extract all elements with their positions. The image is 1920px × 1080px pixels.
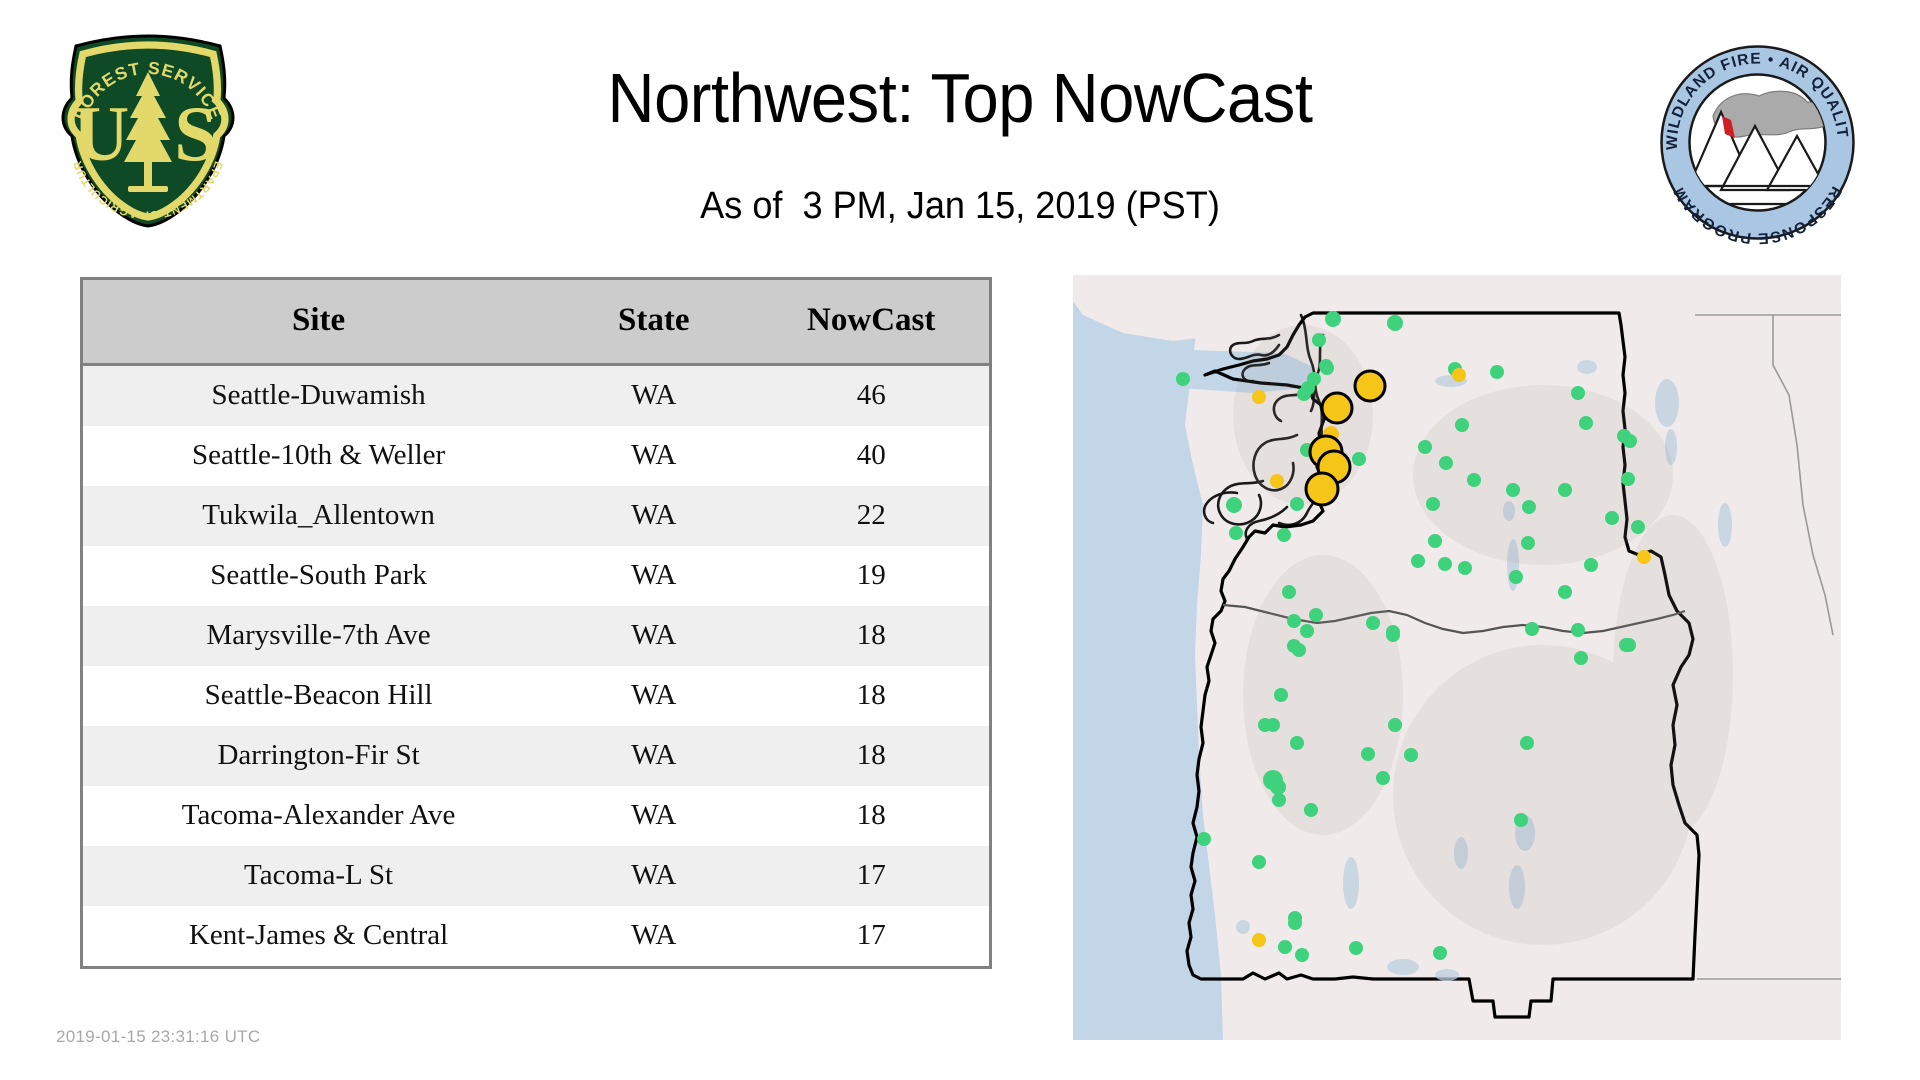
monitor-marker[interactable] xyxy=(1287,614,1301,628)
cell-state: WA xyxy=(554,606,753,666)
monitor-marker[interactable] xyxy=(1325,311,1341,327)
cell-nowcast: 46 xyxy=(753,365,989,427)
monitor-marker[interactable] xyxy=(1558,483,1572,497)
nowcast-table: Site State NowCast Seattle-DuwamishWA46S… xyxy=(80,277,992,969)
cell-state: WA xyxy=(554,726,753,786)
monitor-marker[interactable] xyxy=(1579,416,1593,430)
column-header-nowcast[interactable]: NowCast xyxy=(753,280,989,365)
cell-state: WA xyxy=(554,426,753,486)
monitor-marker[interactable] xyxy=(1558,585,1572,599)
monitor-marker[interactable] xyxy=(1306,473,1338,505)
monitor-marker[interactable] xyxy=(1229,526,1243,540)
monitor-marker[interactable] xyxy=(1349,941,1363,955)
monitor-marker[interactable] xyxy=(1366,616,1380,630)
table-row[interactable]: Tacoma-Alexander AveWA18 xyxy=(83,786,989,846)
table-row[interactable]: Seattle-South ParkWA19 xyxy=(83,546,989,606)
table-row[interactable]: Tukwila_AllentownWA22 xyxy=(83,486,989,546)
cell-state: WA xyxy=(554,786,753,846)
cell-nowcast: 17 xyxy=(753,846,989,906)
monitor-marker[interactable] xyxy=(1605,511,1619,525)
monitor-marker[interactable] xyxy=(1623,434,1637,448)
monitor-marker[interactable] xyxy=(1297,387,1311,401)
monitor-marker[interactable] xyxy=(1309,608,1323,622)
table-row[interactable]: Kent-James & CentralWA17 xyxy=(83,906,989,966)
monitor-marker[interactable] xyxy=(1376,771,1390,785)
monitor-marker[interactable] xyxy=(1252,855,1266,869)
monitor-marker[interactable] xyxy=(1490,365,1504,379)
cell-state: WA xyxy=(554,906,753,966)
monitor-marker[interactable] xyxy=(1428,534,1442,548)
monitor-marker[interactable] xyxy=(1226,497,1242,513)
usfs-shield-logo: U S FOREST SERVICE DEPARTMENT OF AGRICUL… xyxy=(48,30,248,230)
cell-state: WA xyxy=(554,365,753,427)
cell-nowcast: 17 xyxy=(753,906,989,966)
monitor-marker[interactable] xyxy=(1361,747,1375,761)
cell-site: Kent-James & Central xyxy=(83,906,554,966)
table-row[interactable]: Tacoma-L StWA17 xyxy=(83,846,989,906)
monitor-marker[interactable] xyxy=(1438,557,1452,571)
cell-state: WA xyxy=(554,486,753,546)
monitor-marker[interactable] xyxy=(1307,372,1321,386)
monitor-marker[interactable] xyxy=(1387,315,1403,331)
cell-state: WA xyxy=(554,666,753,726)
cell-site: Tacoma-Alexander Ave xyxy=(83,786,554,846)
monitor-marker[interactable] xyxy=(1458,561,1472,575)
monitor-marker[interactable] xyxy=(1452,368,1466,382)
table-row[interactable]: Seattle-DuwamishWA46 xyxy=(83,365,989,427)
monitor-marker[interactable] xyxy=(1355,371,1385,401)
monitor-marker[interactable] xyxy=(1352,452,1366,466)
monitor-marker[interactable] xyxy=(1426,497,1440,511)
monitor-marker[interactable] xyxy=(1433,946,1447,960)
generation-timestamp: 2019-01-15 23:31:16 UTC xyxy=(56,1027,260,1047)
monitor-marker[interactable] xyxy=(1322,393,1352,423)
page-subtitle: As of 3 PM, Jan 15, 2019 (PST) xyxy=(333,185,1587,228)
cell-site: Seattle-Beacon Hill xyxy=(83,666,554,726)
monitor-marker[interactable] xyxy=(1404,748,1418,762)
monitor-marker[interactable] xyxy=(1288,916,1302,930)
cell-site: Tukwila_Allentown xyxy=(83,486,554,546)
table-row[interactable]: Seattle-Beacon HillWA18 xyxy=(83,666,989,726)
monitor-marker[interactable] xyxy=(1521,536,1535,550)
cell-site: Seattle-Duwamish xyxy=(83,365,554,427)
monitor-marker[interactable] xyxy=(1571,623,1585,637)
monitor-marker[interactable] xyxy=(1525,622,1539,636)
cell-nowcast: 18 xyxy=(753,786,989,846)
monitor-marker[interactable] xyxy=(1637,550,1651,564)
monitor-marker[interactable] xyxy=(1619,638,1633,652)
monitor-marker[interactable] xyxy=(1439,456,1453,470)
cell-site: Seattle-10th & Weller xyxy=(83,426,554,486)
pacific-northwest-monitor-map[interactable] xyxy=(1073,275,1841,1040)
cell-nowcast: 18 xyxy=(753,726,989,786)
monitor-marker[interactable] xyxy=(1467,473,1481,487)
monitor-marker[interactable] xyxy=(1292,643,1306,657)
monitor-marker[interactable] xyxy=(1278,940,1292,954)
monitor-marker[interactable] xyxy=(1295,948,1309,962)
cell-site: Tacoma-L St xyxy=(83,846,554,906)
monitor-marker[interactable] xyxy=(1418,440,1432,454)
cell-nowcast: 22 xyxy=(753,486,989,546)
monitor-marker[interactable] xyxy=(1266,718,1280,732)
monitor-marker[interactable] xyxy=(1252,933,1266,947)
table-header-row: Site State NowCast xyxy=(83,280,989,365)
monitor-marker[interactable] xyxy=(1300,624,1314,638)
monitor-marker[interactable] xyxy=(1320,361,1334,375)
cell-state: WA xyxy=(554,546,753,606)
cell-nowcast: 18 xyxy=(753,666,989,726)
cell-nowcast: 18 xyxy=(753,606,989,666)
monitor-marker[interactable] xyxy=(1574,651,1588,665)
monitor-marker[interactable] xyxy=(1274,688,1288,702)
monitor-marker[interactable] xyxy=(1571,386,1585,400)
cell-nowcast: 40 xyxy=(753,426,989,486)
table-row[interactable]: Seattle-10th & WellerWA40 xyxy=(83,426,989,486)
monitor-marker[interactable] xyxy=(1282,585,1296,599)
monitor-marker[interactable] xyxy=(1304,803,1318,817)
monitor-marker[interactable] xyxy=(1509,570,1523,584)
monitor-marker[interactable] xyxy=(1270,779,1286,795)
monitor-marker[interactable] xyxy=(1386,628,1400,642)
monitor-marker[interactable] xyxy=(1270,474,1284,488)
monitor-marker[interactable] xyxy=(1388,718,1402,732)
wfaqrp-seal-logo: WILDLAND FIRE • AIR QUALITY RESPONSE PRO… xyxy=(1655,40,1860,245)
column-header-state[interactable]: State xyxy=(554,280,753,365)
monitor-marker[interactable] xyxy=(1290,497,1304,511)
monitor-marker[interactable] xyxy=(1506,483,1520,497)
monitor-marker[interactable] xyxy=(1621,472,1635,486)
cell-nowcast: 19 xyxy=(753,546,989,606)
monitor-marker[interactable] xyxy=(1312,333,1326,347)
monitor-marker[interactable] xyxy=(1277,528,1291,542)
monitor-marker[interactable] xyxy=(1584,558,1598,572)
monitor-marker[interactable] xyxy=(1411,554,1425,568)
monitor-marker[interactable] xyxy=(1522,500,1536,514)
monitor-marker[interactable] xyxy=(1272,793,1286,807)
table-row[interactable]: Marysville-7th AveWA18 xyxy=(83,606,989,666)
cell-state: WA xyxy=(554,846,753,906)
monitor-marker[interactable] xyxy=(1520,736,1534,750)
monitor-marker[interactable] xyxy=(1631,520,1645,534)
cell-site: Darrington-Fir St xyxy=(83,726,554,786)
monitor-marker[interactable] xyxy=(1176,372,1190,386)
cell-site: Marysville-7th Ave xyxy=(83,606,554,666)
monitor-marker[interactable] xyxy=(1455,418,1469,432)
monitor-marker[interactable] xyxy=(1252,390,1266,404)
column-header-site[interactable]: Site xyxy=(83,280,554,365)
table-row[interactable]: Darrington-Fir StWA18 xyxy=(83,726,989,786)
monitor-marker[interactable] xyxy=(1514,813,1528,827)
monitor-marker[interactable] xyxy=(1197,832,1211,846)
page-title: Northwest: Top NowCast xyxy=(346,62,1574,136)
monitor-marker[interactable] xyxy=(1290,736,1304,750)
cell-site: Seattle-South Park xyxy=(83,546,554,606)
